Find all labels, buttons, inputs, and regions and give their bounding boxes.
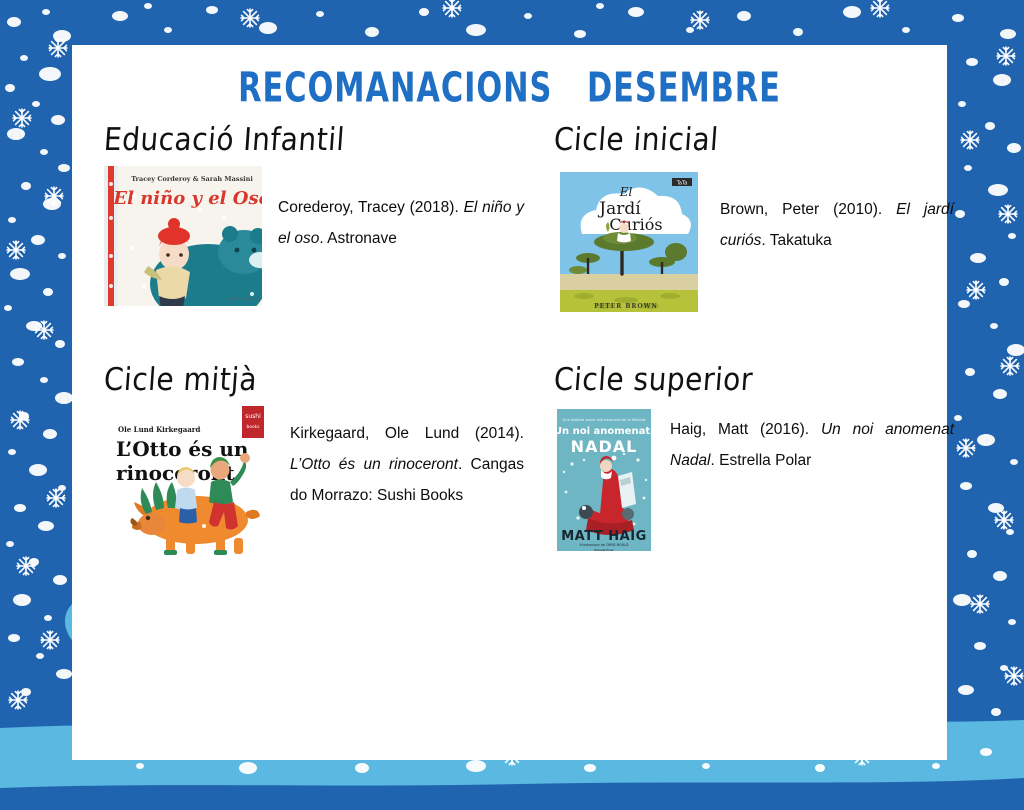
svg-text:Curiós: Curiós (609, 215, 662, 234)
lotto-es-un-rinoceront-cover[interactable]: sushi books Ole Lund Kirkegaard L’Otto é… (104, 406, 274, 556)
svg-text:El niño y el Oso: El niño y el Oso (112, 188, 262, 209)
svg-text:Estrella Polar: Estrella Polar (594, 548, 614, 552)
svg-text:NADAL: NADAL (571, 437, 638, 456)
svg-text:Il·lustracions de CHRIS MOULD: Il·lustracions de CHRIS MOULD (580, 543, 629, 547)
reference-publisher-ci: . Takatuka (761, 232, 831, 249)
reference-publisher-cs: . Estrella Polar (711, 452, 812, 469)
reference-year-cm: (2014). (475, 425, 524, 442)
reference-cicle-mitja: Kirkegaard, Ole Lund (2014). L’Otto és u… (290, 406, 524, 511)
reference-cicle-inicial: Brown, Peter (2010). El jardí curiós. Ta… (720, 166, 954, 256)
reference-author-cm: Kirkegaard, Ole Lund (290, 425, 459, 442)
svg-text:El: El (619, 185, 633, 199)
svg-text:Tracey Corderoy & Sarah Massin: Tracey Corderoy & Sarah Massini (131, 175, 253, 183)
section-heading-cicle-mitja: Cicle mitjà (103, 361, 259, 398)
section-heading-educacio-infantil: Educació Infantil (103, 121, 346, 158)
svg-text:sushi: sushi (245, 413, 261, 420)
section-cicle-superior: Cicle superior Una història sobre allò e… (554, 363, 954, 554)
el-nino-y-el-oso-cover[interactable]: Tracey Corderoy & Sarah Massini El niño … (104, 166, 262, 306)
reference-author-cs: Haig, Matt (670, 421, 748, 438)
section-cicle-inicial: Cicle inicial (554, 123, 954, 318)
section-heading-cicle-inicial: Cicle inicial (553, 121, 720, 158)
svg-text:Ole Lund Kirkegaard: Ole Lund Kirkegaard (118, 425, 200, 434)
reference-year-ci: (2010). (833, 201, 882, 218)
poster-canvas: RECOMANACIONS DESEMBRE Educació Infantil… (0, 0, 1024, 810)
reference-author-ci: Brown, Peter (720, 201, 819, 218)
content-panel: RECOMANACIONS DESEMBRE Educació Infantil… (72, 45, 947, 760)
un-noi-anomenat-nadal-cover[interactable]: Una història sobre allò essencial de la … (554, 406, 654, 554)
reference-cicle-superior: Haig, Matt (2016). Un noi anomenat Nadal… (670, 406, 954, 476)
svg-text:Una història sobre allò essenc: Una història sobre allò essencial de la … (563, 418, 646, 422)
reference-educacio-infantil: Corederoy, Tracey (2018). El niño y el o… (278, 166, 524, 254)
reference-title-cm: L’Otto és un rinoceront (290, 456, 458, 473)
reference-year-ei: (2018). (410, 199, 459, 216)
svg-text:MATT HAIG: MATT HAIG (561, 529, 647, 544)
reference-publisher-ei: . Astronave (319, 230, 397, 247)
el-jardi-curios-cover[interactable]: TaTa El Jardí Curiós (554, 166, 704, 318)
svg-text:books: books (247, 424, 261, 430)
page-title: RECOMANACIONS DESEMBRE (94, 63, 925, 112)
svg-text:Un noi anomenat: Un noi anomenat (554, 426, 650, 437)
section-educacio-infantil: Educació Infantil Tracey Corderoy & Sara… (104, 123, 524, 306)
svg-text:L’Otto és un: L’Otto és un (116, 437, 249, 461)
svg-text:PETER BROWN: PETER BROWN (594, 303, 658, 310)
section-heading-cicle-superior: Cicle superior (553, 361, 754, 398)
reference-author-ei: Corederoy, Tracey (278, 199, 405, 216)
section-cicle-mitja: Cicle mitjà sushi books Ole Lund Kirkega… (104, 363, 524, 556)
svg-text:TaTa: TaTa (676, 181, 688, 187)
reference-year-cs: (2016). (760, 421, 809, 438)
svg-text:astronave: astronave (230, 296, 258, 302)
